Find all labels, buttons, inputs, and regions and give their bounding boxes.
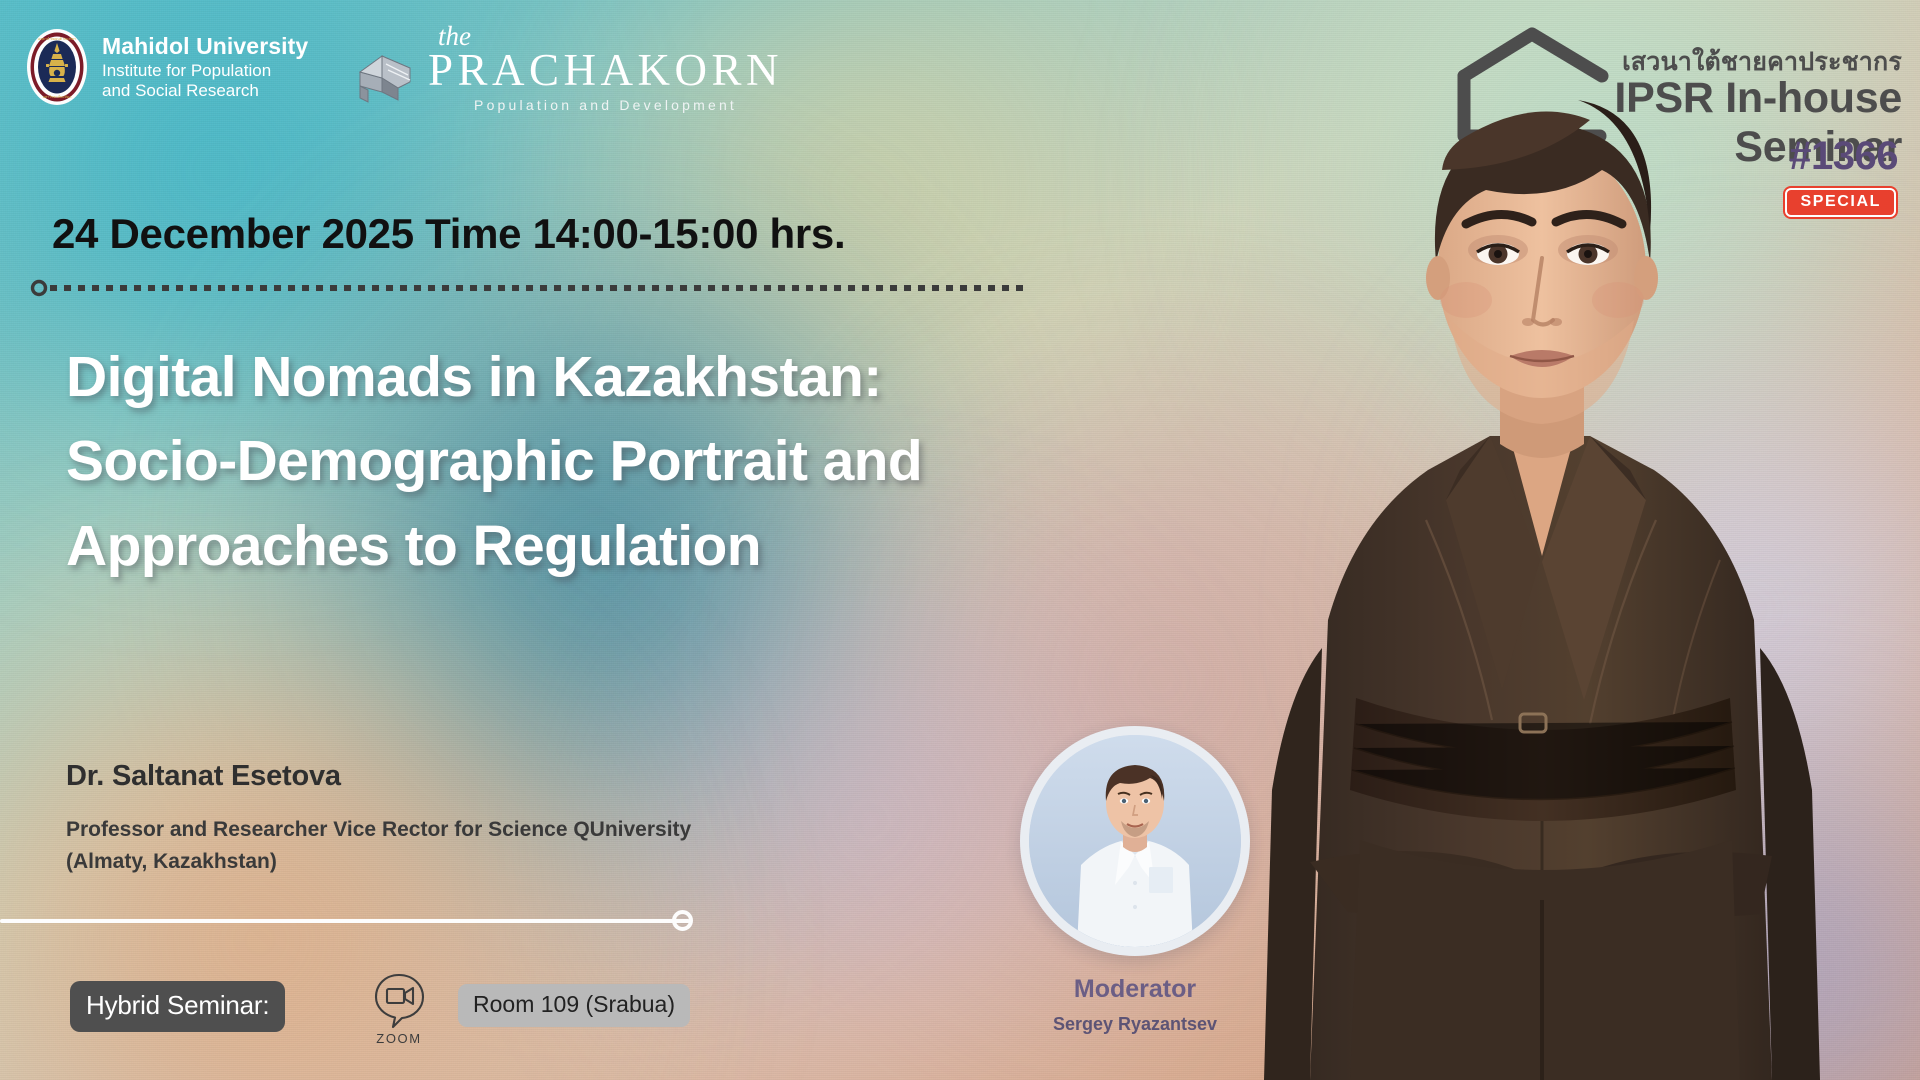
title-line-2: Socio-Demographic Portrait and (66, 419, 1246, 503)
prachakorn-name: PRACHAKORN (428, 48, 783, 93)
zoom-video-icon[interactable] (371, 972, 427, 1030)
event-datetime: 24 December 2025 Time 14:00-15:00 hrs. (52, 210, 845, 258)
prachakorn-tagline: Population and Development (428, 97, 783, 113)
dotted-divider (30, 279, 1030, 297)
mahidol-logo: อตฺตานํ ทมยนฺติ ปณฺฑิตา มหาวิทยาลัยมหิดล… (26, 28, 308, 106)
svg-text:มหาวิทยาลัยมหิดล: มหาวิทยาลัยมหิดล (43, 95, 72, 99)
mahidol-name: Mahidol University (102, 33, 308, 60)
speaker-role-line-2: (Almaty, Kazakhstan) (66, 846, 1026, 878)
room-label: Room 109 (Srabua) (458, 984, 690, 1027)
white-divider-knob (672, 910, 693, 931)
mahidol-logo-text: Mahidol University Institute for Populat… (102, 33, 308, 100)
mahidol-sub-line1: Institute for Population (102, 61, 308, 81)
speaker-role-line-1: Professor and Researcher Vice Rector for… (66, 814, 1026, 846)
speaker-name: Dr. Saltanat Esetova (66, 760, 341, 793)
speaker-portrait (1160, 0, 1920, 1080)
seminar-poster: อตฺตานํ ทมยนฺติ ปณฺฑิตา มหาวิทยาลัยมหิดล… (0, 0, 1920, 1080)
zoom-label: ZOOM (362, 1031, 436, 1046)
zoom-block[interactable]: ZOOM (362, 972, 436, 1046)
page-title: Digital Nomads in Kazakhstan: Socio-Demo… (66, 335, 1246, 588)
title-line-1: Digital Nomads in Kazakhstan: (66, 335, 1246, 419)
prachakorn-logo-text: the PRACHAKORN Population and Developmen… (428, 24, 783, 113)
prachakorn-logo: the PRACHAKORN Population and Developmen… (352, 24, 783, 113)
title-line-3: Approaches to Regulation (66, 504, 1246, 588)
white-divider (0, 919, 690, 923)
hybrid-seminar-label: Hybrid Seminar: (70, 981, 285, 1032)
mahidol-sub-line2: and Social Research (102, 81, 308, 101)
mahidol-seal-icon: อตฺตานํ ทมยนฺติ ปณฺฑิตา มหาวิทยาลัยมหิดล (26, 28, 88, 106)
svg-text:อตฺตานํ ทมยนฺติ ปณฺฑิตา: อตฺตานํ ทมยนฺติ ปณฺฑิตา (38, 37, 76, 41)
speaker-affiliation: Professor and Researcher Vice Rector for… (66, 814, 1026, 879)
prachakorn-mark-icon (352, 48, 418, 110)
